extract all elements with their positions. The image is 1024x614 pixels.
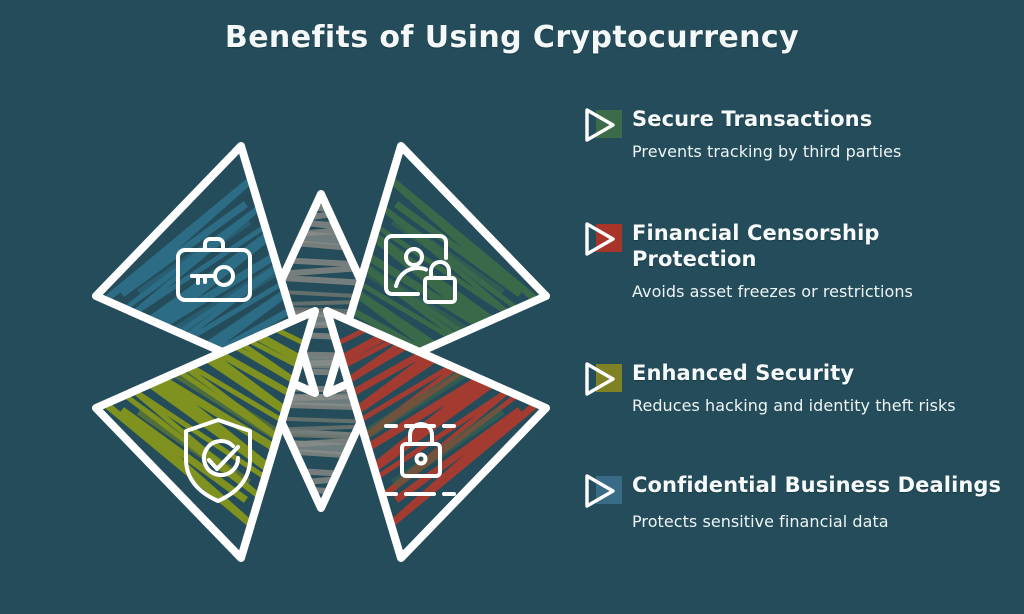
- page-title: Benefits of Using Cryptocurrency: [0, 20, 1024, 55]
- benefit-description: Reduces hacking and identity theft risks: [632, 395, 1004, 418]
- play-triangle-icon: [584, 474, 628, 508]
- benefits-list: Secure Transactions Prevents tracking by…: [584, 102, 1004, 602]
- pinwheel-triangles-diagram: [78, 108, 564, 594]
- benefit-description: Prevents tracking by third parties: [632, 141, 1004, 164]
- benefit-item-confidential-business-dealings[interactable]: Confidential Business Dealings Protects …: [584, 472, 1004, 534]
- infographic-slide: Benefits of Using Cryptocurrency: [0, 0, 1024, 614]
- benefit-description: Protects sensitive financial data: [632, 511, 1004, 534]
- benefit-heading: Confidential Business Dealings: [632, 472, 1004, 498]
- benefit-description: Avoids asset freezes or restrictions: [632, 281, 1004, 304]
- benefit-item-financial-censorship-protection[interactable]: Financial Censorship Protection Avoids a…: [584, 220, 1004, 304]
- benefit-heading: Secure Transactions: [632, 106, 1004, 132]
- play-triangle-icon: [584, 362, 628, 396]
- benefit-item-secure-transactions[interactable]: Secure Transactions Prevents tracking by…: [584, 106, 1004, 164]
- play-triangle-icon: [584, 108, 628, 142]
- benefit-heading: Enhanced Security: [632, 360, 1004, 386]
- benefit-heading: Financial Censorship Protection: [632, 220, 1004, 272]
- benefit-item-enhanced-security[interactable]: Enhanced Security Reduces hacking and id…: [584, 360, 1004, 418]
- play-triangle-icon: [584, 222, 628, 256]
